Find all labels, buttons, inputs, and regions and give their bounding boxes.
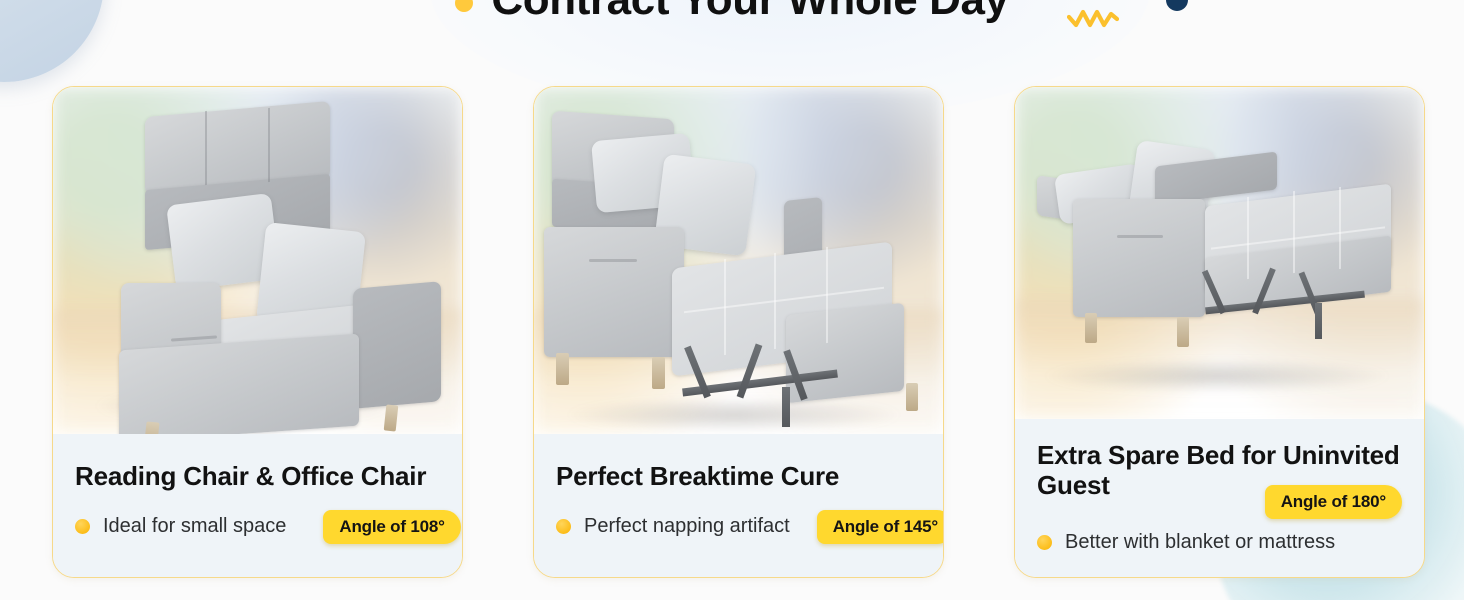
bullet-dot-icon — [75, 519, 90, 534]
card-detail-row: Perfect napping artifact Angle of 145° — [534, 510, 943, 544]
card-title: Perfect Breaktime Cure — [534, 434, 943, 492]
caption-spare-bed: Extra Spare Bed for Uninvited Guest Bett… — [1015, 419, 1424, 577]
caption-reading-chair: Reading Chair & Office Chair Ideal for s… — [53, 434, 462, 577]
product-photo-spare-bed — [1015, 87, 1424, 419]
feature-card-breaktime-cure[interactable]: Perfect Breaktime Cure Perfect napping a… — [533, 86, 944, 578]
angle-badge[interactable]: Angle of 108° — [323, 510, 460, 544]
product-photo-reading-chair — [53, 87, 462, 434]
top-left-blue-circle — [0, 0, 104, 82]
yellow-squiggle-icon — [1067, 6, 1119, 28]
card-detail-row: Ideal for small space Angle of 108° — [53, 510, 462, 544]
card-detail-row: Better with blanket or mattress Angle of… — [1015, 531, 1424, 554]
card-bullet-text: Perfect napping artifact — [584, 515, 790, 538]
bullet-dot-icon — [1037, 535, 1052, 550]
card-title: Reading Chair & Office Chair — [53, 434, 462, 492]
feature-card-reading-chair[interactable]: Reading Chair & Office Chair Ideal for s… — [52, 86, 463, 578]
caption-breaktime-cure: Perfect Breaktime Cure Perfect napping a… — [534, 434, 943, 577]
bullet-dot-icon — [556, 519, 571, 534]
card-bullet-text: Ideal for small space — [103, 515, 286, 538]
angle-badge[interactable]: Angle of 145° — [817, 510, 944, 544]
angle-badge[interactable]: Angle of 180° — [1265, 485, 1402, 519]
product-photo-breaktime-cure — [534, 87, 943, 434]
navy-dot-icon — [1166, 0, 1188, 11]
feature-card-spare-bed[interactable]: Extra Spare Bed for Uninvited Guest Bett… — [1014, 86, 1425, 578]
card-bullet-text: Better with blanket or mattress — [1065, 531, 1335, 554]
